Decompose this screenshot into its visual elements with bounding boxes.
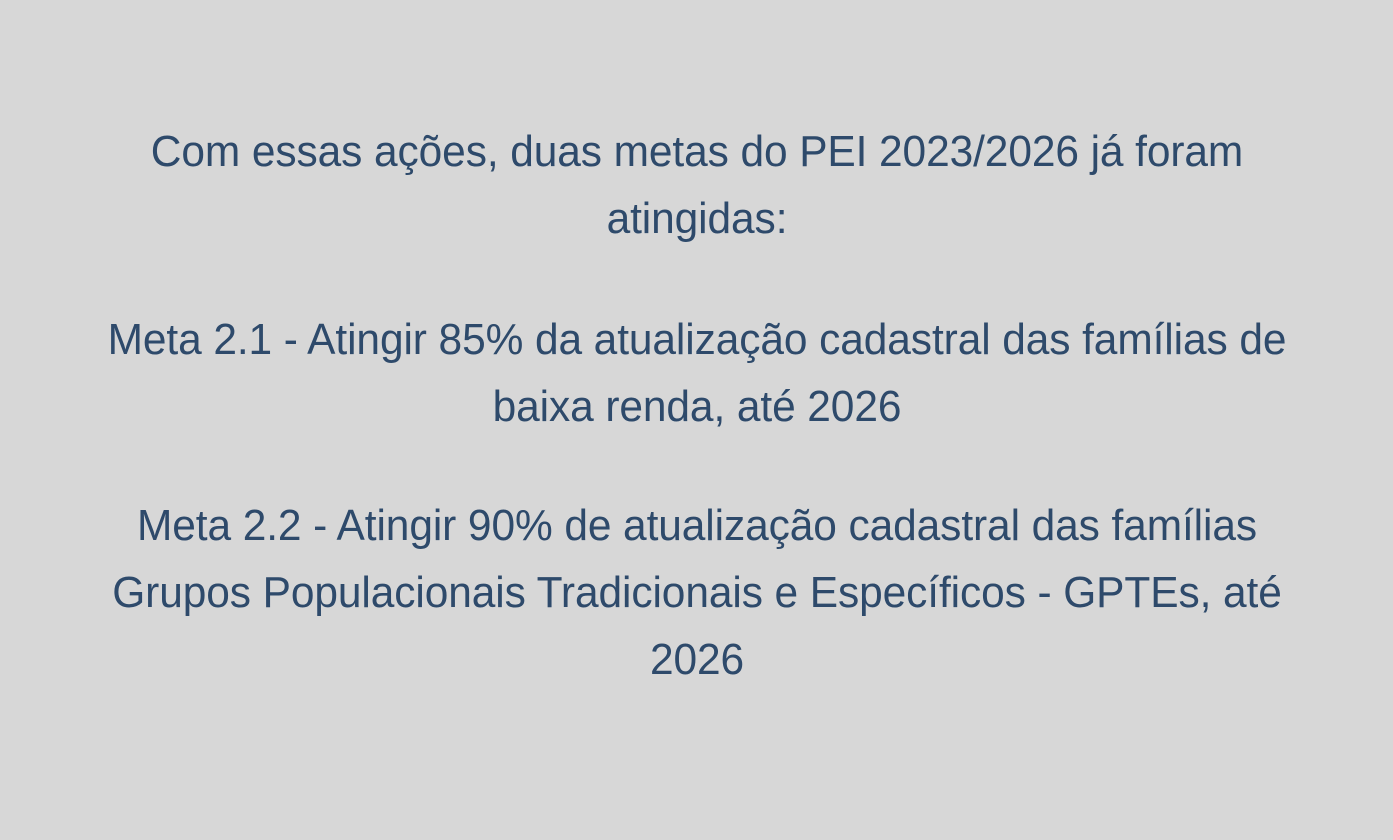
slide-canvas: Com essas ações, duas metas do PEI 2023/…: [0, 0, 1393, 840]
meta-2-1-paragraph: Meta 2.1 - Atingir 85% da atualização ca…: [69, 306, 1324, 440]
slide-text-body: Com essas ações, duas metas do PEI 2023/…: [0, 0, 1393, 693]
meta-2-2-paragraph: Meta 2.2 - Atingir 90% de atualização ca…: [69, 492, 1324, 693]
intro-paragraph: Com essas ações, duas metas do PEI 2023/…: [122, 118, 1270, 252]
